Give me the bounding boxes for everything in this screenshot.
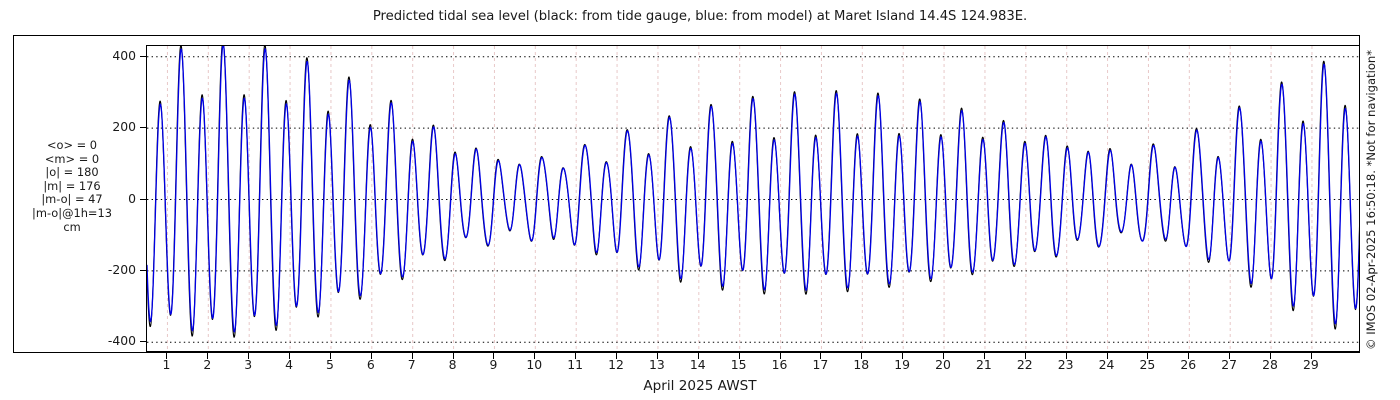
y-tick-label: -400 xyxy=(0,333,136,348)
x-tick-label: 24 xyxy=(1099,357,1115,372)
x-tick-label: 2 xyxy=(203,357,211,372)
stat-line-mean-model: <m> = 0 xyxy=(8,153,136,167)
x-tick-label: 21 xyxy=(976,357,992,372)
y-tick-label: 0 xyxy=(0,191,136,206)
tide-series-group xyxy=(147,46,1360,337)
x-tick-label: 3 xyxy=(244,357,252,372)
y-tick-mark xyxy=(140,199,146,200)
x-tick-label: 23 xyxy=(1058,357,1074,372)
x-tick-label: 5 xyxy=(326,357,334,372)
x-tick-label: 9 xyxy=(489,357,497,372)
x-tick-label: 20 xyxy=(935,357,951,372)
y-tick-mark xyxy=(140,341,146,342)
tide-series-observed xyxy=(147,46,1360,337)
x-tick-label: 28 xyxy=(1262,357,1278,372)
x-tick-label: 1 xyxy=(162,357,170,372)
x-tick-label: 22 xyxy=(1017,357,1033,372)
y-tick-mark xyxy=(140,127,146,128)
tide-series-model xyxy=(147,46,1360,332)
x-tick-label: 14 xyxy=(690,357,706,372)
x-tick-label: 15 xyxy=(731,357,747,372)
x-tick-label: 26 xyxy=(1180,357,1196,372)
x-tick-label: 7 xyxy=(408,357,416,372)
x-tick-label: 18 xyxy=(853,357,869,372)
x-tick-label: 19 xyxy=(894,357,910,372)
plot-area xyxy=(146,45,1360,352)
stat-line-abs-diff-1h: |m-o|@1h=13 xyxy=(8,207,136,221)
x-tick-label: 10 xyxy=(526,357,542,372)
stat-line-units: cm xyxy=(8,221,136,235)
x-tick-label: 12 xyxy=(608,357,624,372)
x-tick-label: 13 xyxy=(649,357,665,372)
statistics-block: <o> = 0 <m> = 0 |o| = 180 |m| = 176 |m-o… xyxy=(8,139,136,234)
x-tick-label: 8 xyxy=(449,357,457,372)
y-tick-label: -200 xyxy=(0,262,136,277)
tide-series-plot xyxy=(147,46,1360,352)
y-tick-mark xyxy=(140,270,146,271)
x-tick-label: 29 xyxy=(1303,357,1319,372)
x-tick-label: 16 xyxy=(772,357,788,372)
x-tick-label: 27 xyxy=(1221,357,1237,372)
stat-line-abs-obs: |o| = 180 xyxy=(8,166,136,180)
gridlines xyxy=(147,46,1360,352)
x-tick-label: 11 xyxy=(567,357,583,372)
y-tick-label: 200 xyxy=(0,119,136,134)
x-tick-label: 17 xyxy=(813,357,829,372)
x-tick-label: 6 xyxy=(367,357,375,372)
tidal-chart-figure: Predicted tidal sea level (black: from t… xyxy=(0,0,1400,400)
x-tick-label: 25 xyxy=(1140,357,1156,372)
x-tick-label: 4 xyxy=(285,357,293,372)
copyright-credit: © IMOS 02-Apr-2025 16:50:18. *Not for na… xyxy=(1364,50,1378,350)
y-tick-mark xyxy=(140,56,146,57)
y-tick-label: 400 xyxy=(0,48,136,63)
page-title: Predicted tidal sea level (black: from t… xyxy=(0,9,1400,24)
stat-line-mean-obs: <o> = 0 xyxy=(8,139,136,153)
x-axis-title: April 2025 AWST xyxy=(0,378,1400,394)
